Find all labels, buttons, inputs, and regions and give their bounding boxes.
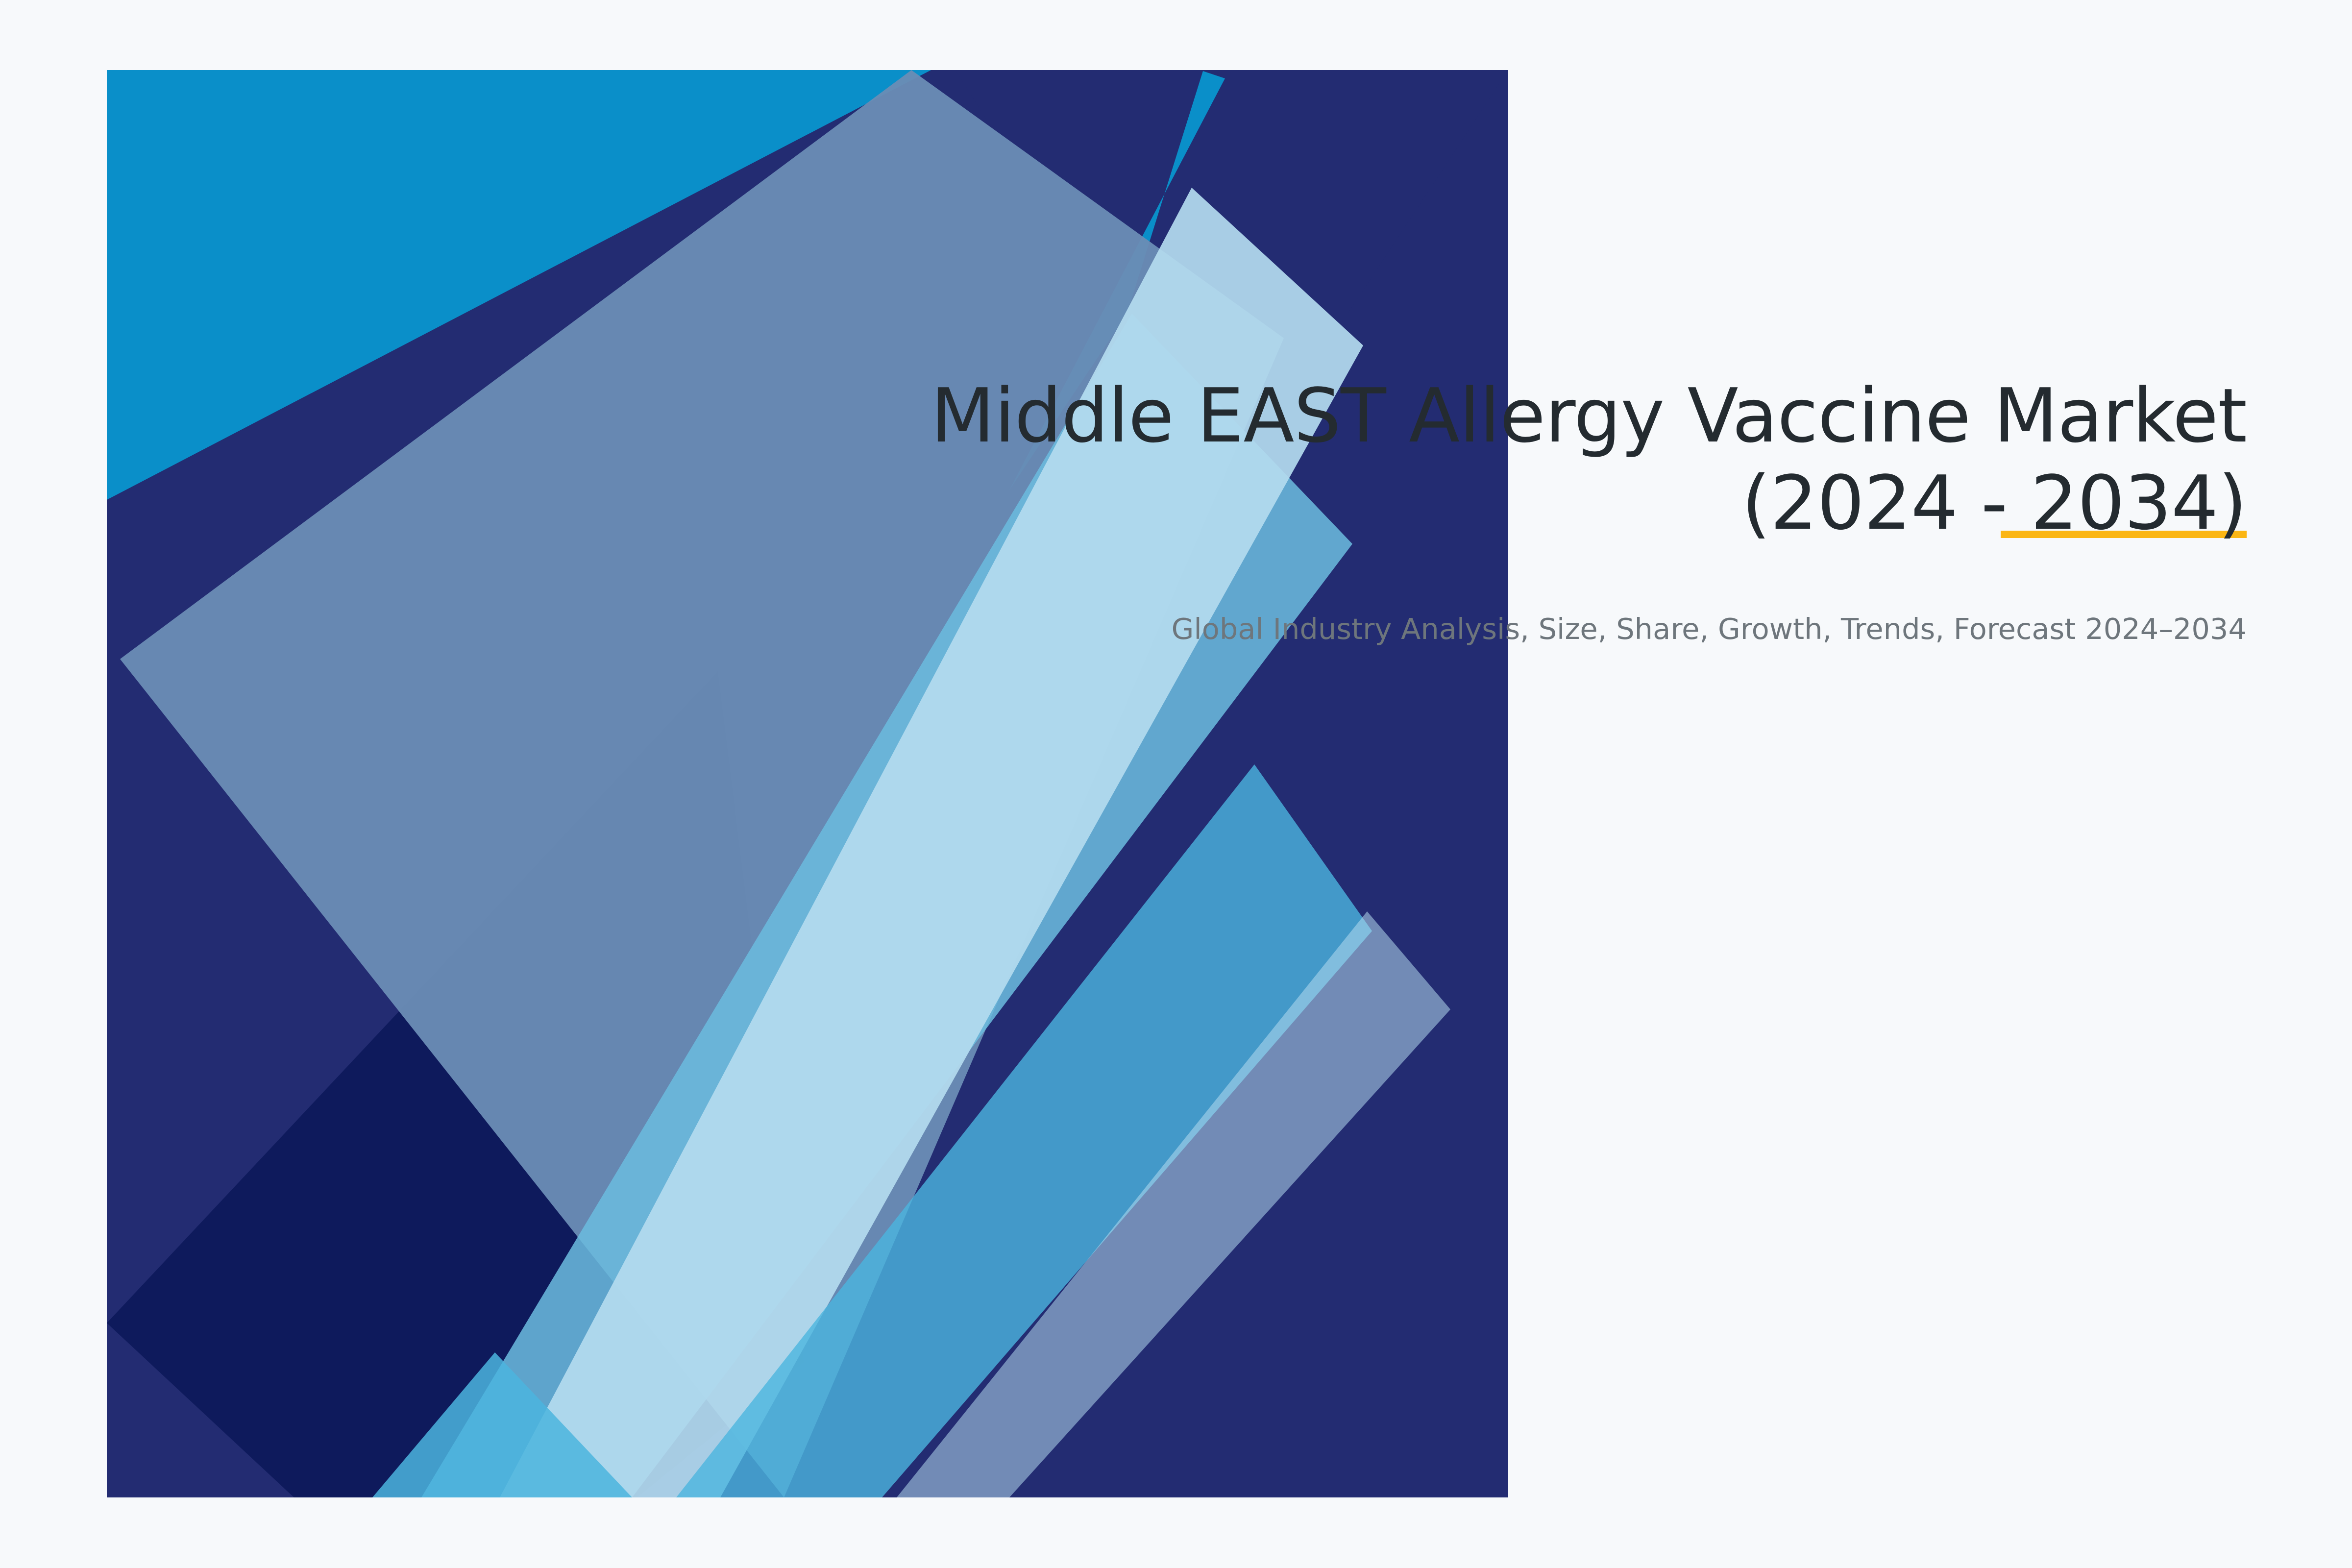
report-subtitle: Global Industry Analysis, Size, Share, G…: [777, 610, 2247, 649]
page-title: Middle EAST Allergy Vaccine Market (2024…: [777, 372, 2247, 547]
abstract-geometric-banner: [0, 0, 2352, 1568]
report-cover-page: Middle EAST Allergy Vaccine Market (2024…: [0, 0, 2352, 1568]
artwork-canvas: [0, 0, 2352, 1568]
cover-text-block: Middle EAST Allergy Vaccine Market (2024…: [777, 372, 2247, 648]
